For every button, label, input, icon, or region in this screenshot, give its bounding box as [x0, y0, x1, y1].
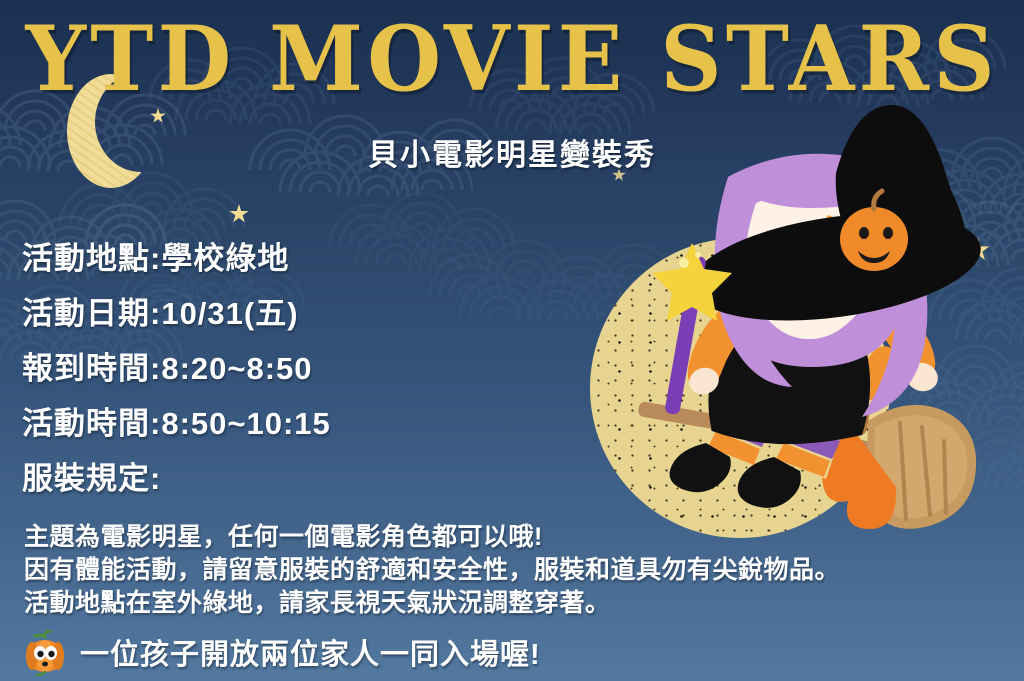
- page-title: YTD MOVIE STARS: [25, 14, 998, 104]
- body-line-theme: 主題為電影明星，任何一個電影角色都可以哦!: [24, 521, 840, 554]
- poster-subtitle: 貝小電影明星變裝秀: [0, 130, 1024, 174]
- star-icon: [229, 204, 249, 224]
- info-line-date: 活動日期:10/31(五): [22, 298, 331, 329]
- pumpkin-icon: [22, 630, 68, 681]
- info-line-event-time: 活動時間:8:50~10:15: [22, 408, 331, 439]
- event-info-list: 活動地點:學校綠地 活動日期:10/31(五) 報到時間:8:20~8:50 活…: [22, 243, 331, 518]
- body-line-weather: 活動地點在室外綠地，請家長視天氣狀況調整穿著。: [24, 587, 840, 620]
- info-line-location: 活動地點:學校綠地: [22, 243, 331, 274]
- halloween-event-poster: YTD MOVIE STARS 貝小電影明星變裝秀 活動地點:學校綠地 活動日期…: [0, 0, 1024, 681]
- dress-code-details: 主題為電影明星，任何一個電影角色都可以哦! 因有體能活動，請留意服裝的舒適和安全…: [24, 521, 840, 620]
- admission-note: 一位孩子開放兩位家人一同入場喔!: [22, 630, 541, 681]
- info-line-dress-code: 服裝規定:: [22, 463, 331, 494]
- poster-title-wrap: YTD MOVIE STARS: [0, 14, 1024, 94]
- admission-note-text: 一位孩子開放兩位家人一同入場喔!: [80, 641, 541, 670]
- info-line-checkin: 報到時間:8:20~8:50: [22, 353, 331, 384]
- body-line-safety: 因有體能活動，請留意服裝的舒適和安全性，服裝和道具勿有尖銳物品。: [24, 554, 840, 587]
